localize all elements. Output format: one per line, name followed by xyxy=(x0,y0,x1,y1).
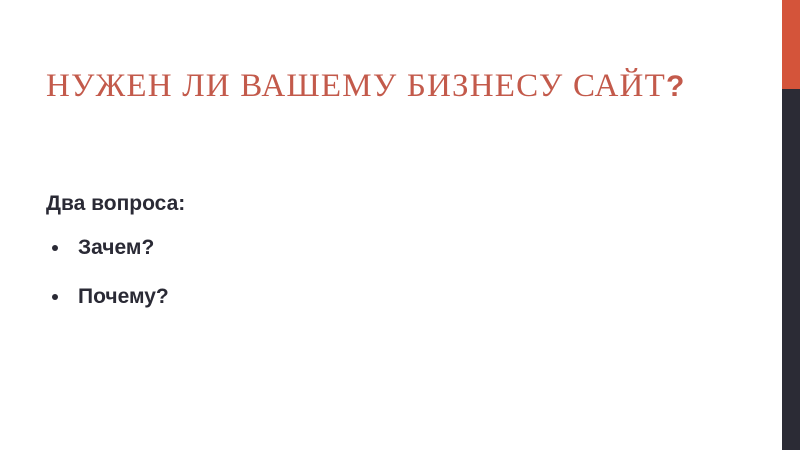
body-content: Два вопроса: Зачем? Почему? xyxy=(46,190,686,332)
page-title-line-1: Нужен ли вашему бизнесу xyxy=(46,68,563,104)
accent-bar-top xyxy=(782,0,800,89)
page-title-question-mark: ? xyxy=(666,70,684,103)
accent-bar-bottom xyxy=(782,89,800,450)
bullet-list: Зачем? Почему? xyxy=(46,234,686,311)
page-title-line-2: сайт xyxy=(573,68,666,104)
slide-canvas: Нужен ли вашему бизнесу сайт? Два вопрос… xyxy=(0,0,800,450)
list-item: Зачем? xyxy=(46,234,686,262)
bullet-dot-icon xyxy=(52,294,58,300)
list-item-label: Почему? xyxy=(78,285,169,308)
bullet-dot-icon xyxy=(52,245,58,251)
body-lead-text: Два вопроса: xyxy=(46,190,686,218)
list-item-label: Зачем? xyxy=(78,236,154,259)
page-title: Нужен ли вашему бизнесу сайт? xyxy=(46,64,706,109)
list-item: Почему? xyxy=(46,283,686,311)
